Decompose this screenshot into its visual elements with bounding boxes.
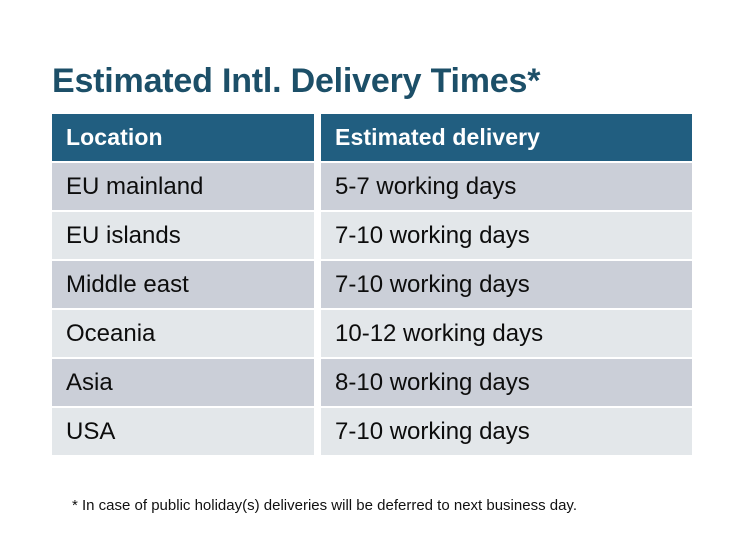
footnote: * In case of public holiday(s) deliverie… bbox=[72, 496, 577, 516]
table-row: Asia 8-10 working days bbox=[52, 359, 692, 408]
column-header-estimated-delivery: Estimated delivery bbox=[321, 114, 692, 163]
column-header-location: Location bbox=[52, 114, 321, 163]
table-body: EU mainland 5-7 working days EU islands … bbox=[52, 163, 692, 457]
page-title: Estimated Intl. Delivery Times* bbox=[52, 59, 540, 103]
cell-location: EU islands bbox=[52, 212, 321, 261]
cell-location: Middle east bbox=[52, 261, 321, 310]
cell-estimated-delivery: 7-10 working days bbox=[321, 408, 692, 457]
table-row: USA 7-10 working days bbox=[52, 408, 692, 457]
cell-estimated-delivery: 10-12 working days bbox=[321, 310, 692, 359]
cell-location: Oceania bbox=[52, 310, 321, 359]
delivery-times-table: Location Estimated delivery EU mainland … bbox=[52, 114, 692, 457]
cell-estimated-delivery: 5-7 working days bbox=[321, 163, 692, 212]
cell-location: EU mainland bbox=[52, 163, 321, 212]
cell-estimated-delivery: 8-10 working days bbox=[321, 359, 692, 408]
table-row: Oceania 10-12 working days bbox=[52, 310, 692, 359]
cell-estimated-delivery: 7-10 working days bbox=[321, 261, 692, 310]
table-row: EU mainland 5-7 working days bbox=[52, 163, 692, 212]
cell-estimated-delivery: 7-10 working days bbox=[321, 212, 692, 261]
delivery-times-page: Estimated Intl. Delivery Times* Location… bbox=[0, 0, 745, 536]
table-row: EU islands 7-10 working days bbox=[52, 212, 692, 261]
table-header: Location Estimated delivery bbox=[52, 114, 692, 163]
table-header-row: Location Estimated delivery bbox=[52, 114, 692, 163]
cell-location: USA bbox=[52, 408, 321, 457]
table-row: Middle east 7-10 working days bbox=[52, 261, 692, 310]
cell-location: Asia bbox=[52, 359, 321, 408]
